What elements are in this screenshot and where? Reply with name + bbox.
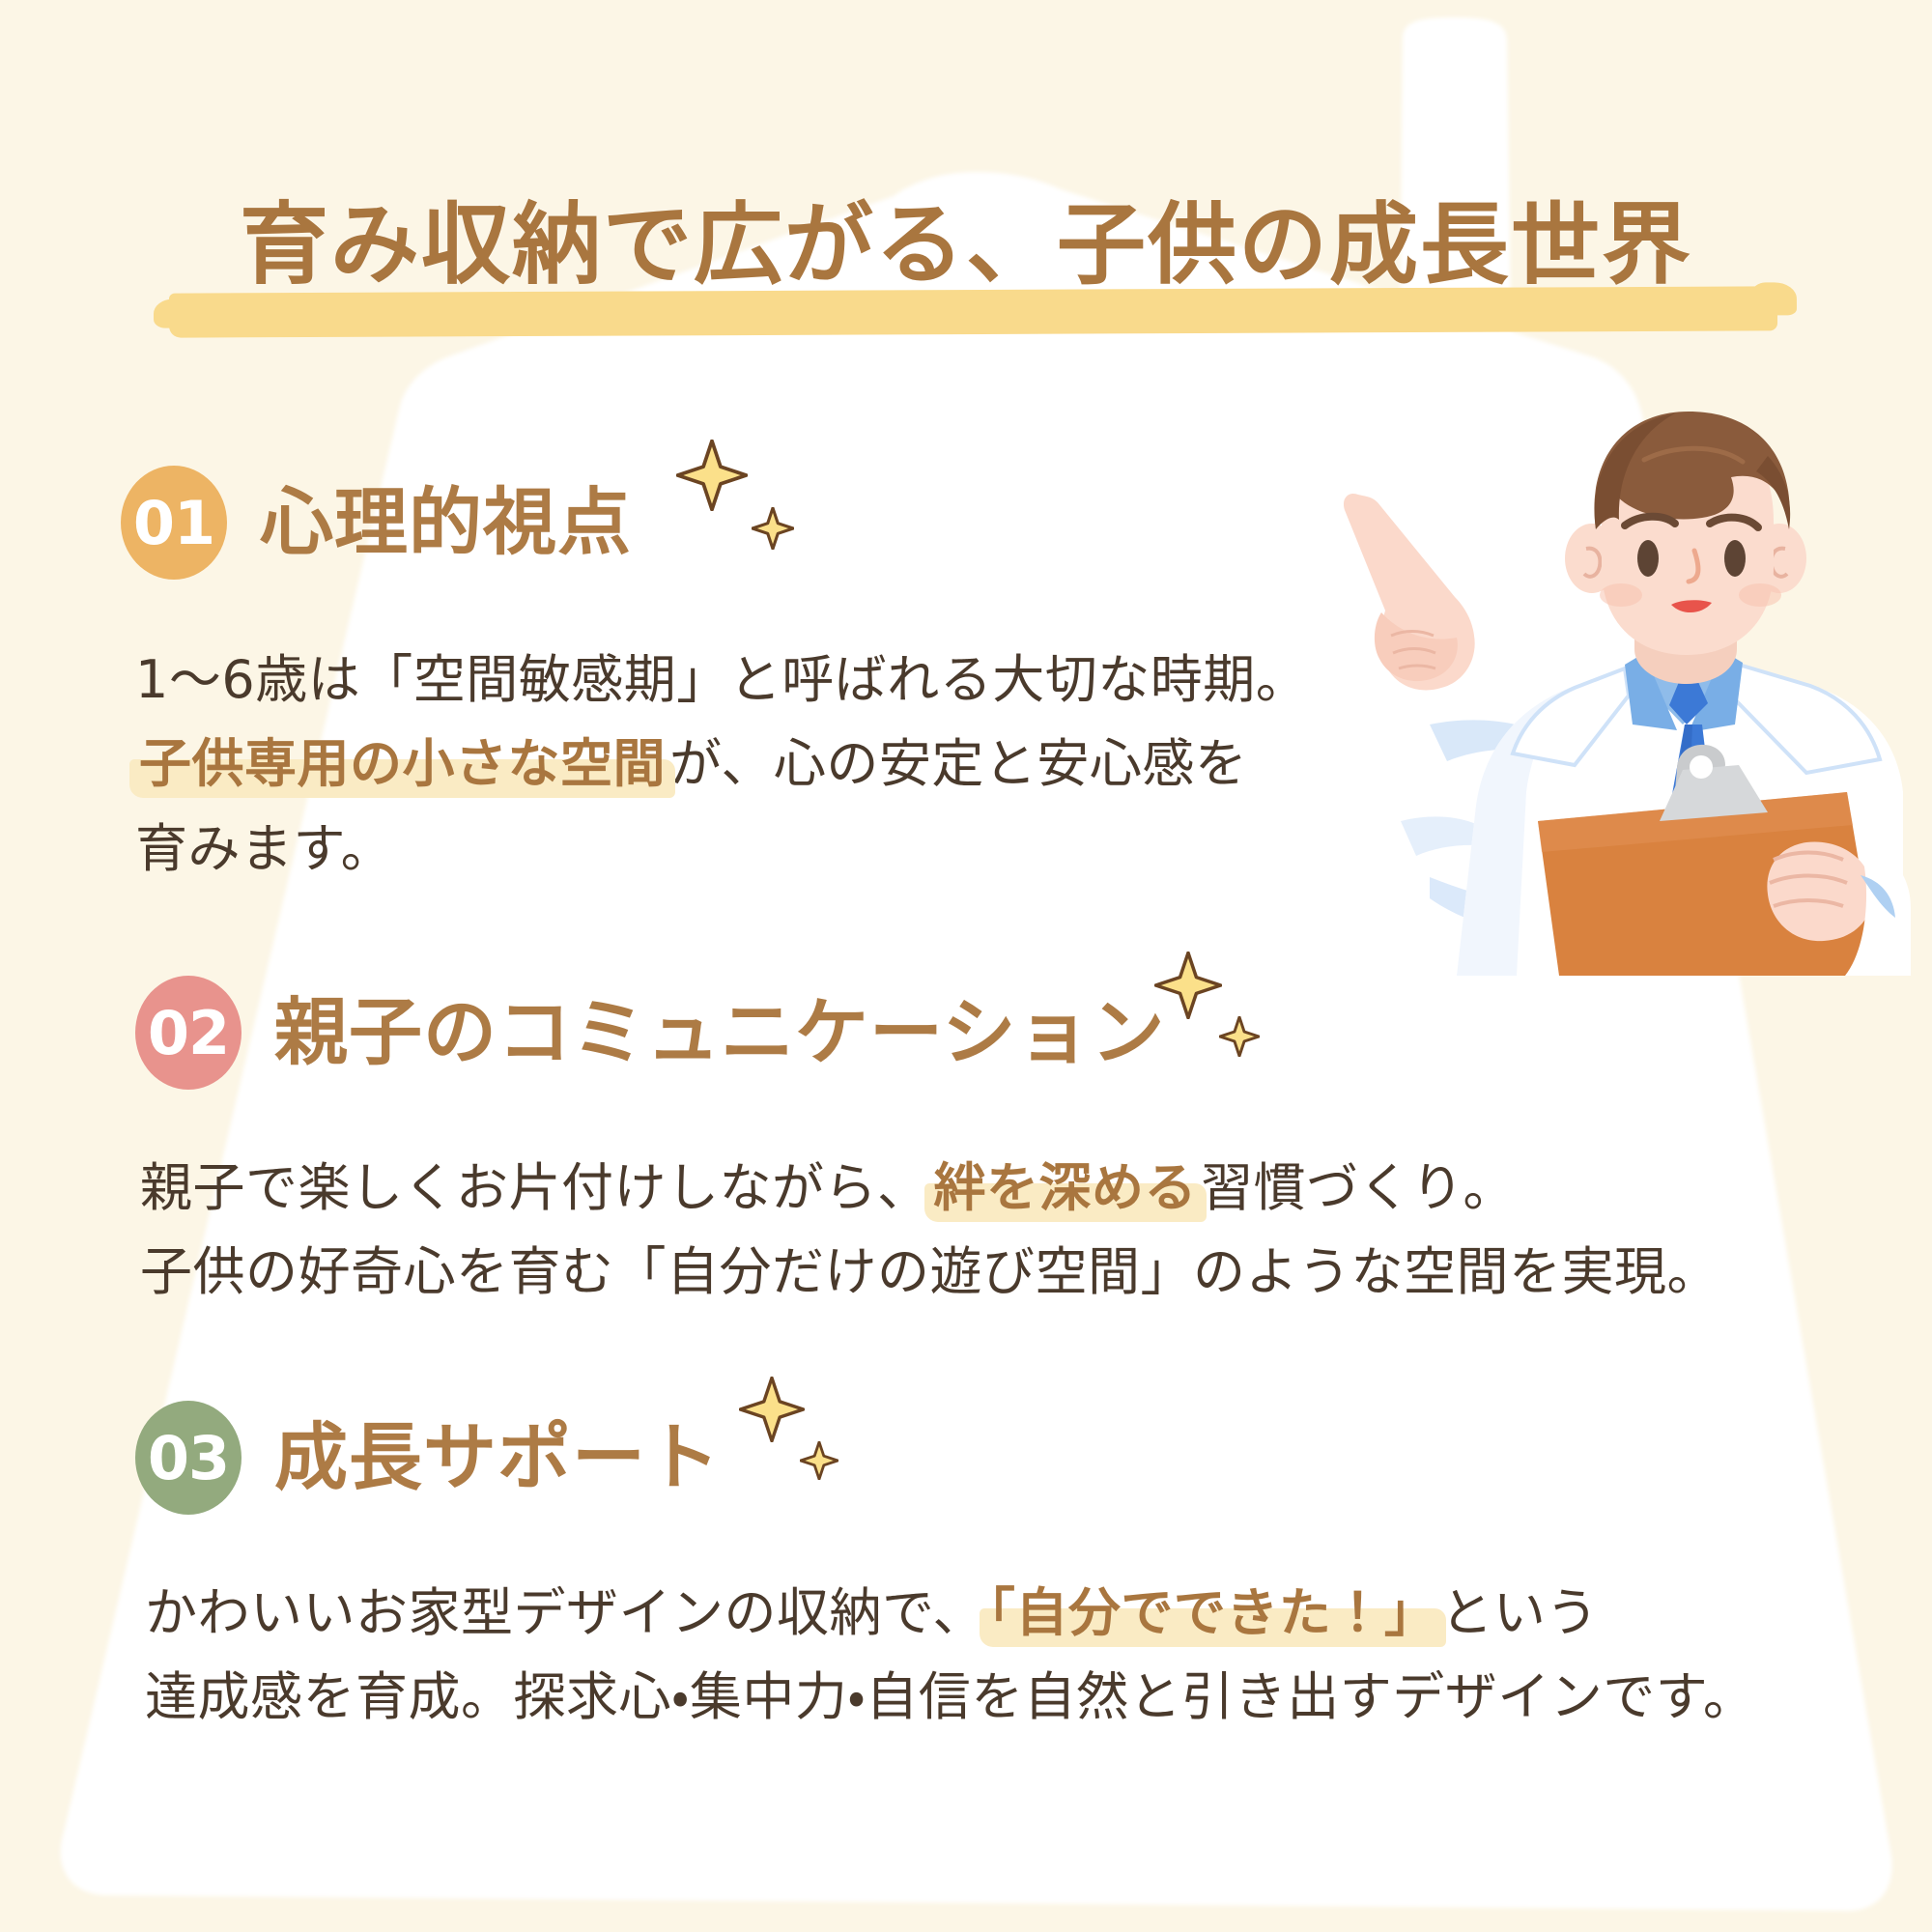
highlight-run: 絆を深める [930, 1157, 1202, 1218]
text-run: という [1440, 1582, 1599, 1643]
text-run: 親子で楽しくお片付けしながら、 [140, 1157, 930, 1218]
section-03-line-1: かわいいお家型デザインの収納で、「自分でできた！」という [145, 1571, 1932, 1655]
section-02-line-1: 親子で楽しくお片付けしながら、絆を深める習慣づくり。 [140, 1146, 1932, 1230]
section-01-body: 1〜6歳は「空間敏感期」と呼ばれる大切な時期。 子供専用の小さな空間が、心の安定… [0, 580, 1932, 891]
section-03: 03 成長サポート かわいいお家型デザインの収納で、「自分でできた！」という 達… [0, 1401, 1932, 1740]
text-run: かわいいお家型デザインの収納で、 [145, 1582, 985, 1643]
text-run: が、心の安定と安心感を [669, 733, 1247, 794]
text-run: 達成感を育成。探求心・集中力・自信を自然と引き出すデザインです。 [145, 1666, 1755, 1727]
section-02: 02 親子のコミュニケーション 親子で楽しくお片付けしながら、絆を深める習慣づく… [0, 976, 1932, 1315]
section-02-body: 親子で楽しくお片付けしながら、絆を深める習慣づくり。 子供の好奇心を育む「自分だ… [0, 1090, 1932, 1315]
section-03-heading: 成長サポート [274, 1421, 721, 1494]
section-02-number-badge: 02 [135, 976, 241, 1090]
highlight-run: 「自分でできた！」 [985, 1582, 1441, 1643]
text-run: 習慣づくり。 [1201, 1157, 1516, 1218]
section-03-line-2: 達成感を育成。探求心・集中力・自信を自然と引き出すデザインです。 [145, 1655, 1932, 1739]
section-03-number-badge: 03 [135, 1401, 241, 1515]
section-01-line-3: 育みます。 [135, 807, 1932, 891]
text-run: 育みます。 [135, 818, 393, 879]
text-run: 子供の好奇心を育む「自分だけの遊び空間」のような空間を実現。 [140, 1241, 1719, 1302]
section-03-body: かわいいお家型デザインの収納で、「自分でできた！」という 達成感を育成。探求心・… [0, 1515, 1932, 1740]
highlight-run: 子供専用の小さな空間 [135, 733, 669, 794]
page-title-text: 育み収納で広がる、子供の成長世界 [0, 201, 1932, 290]
section-01-line-1: 1〜6歳は「空間敏感期」と呼ばれる大切な時期。 [135, 638, 1932, 722]
section-01-heading: 心理的視点 [260, 486, 632, 559]
section-03-header: 03 成長サポート [0, 1401, 1932, 1515]
section-02-header: 02 親子のコミュニケーション [0, 976, 1932, 1090]
section-01-number-badge: 01 [121, 466, 227, 580]
text-run: 1〜6歳は「空間敏感期」と呼ばれる大切な時期。 [135, 649, 1308, 710]
section-02-heading: 親子のコミュニケーション [274, 996, 1165, 1069]
section-02-line-2: 子供の好奇心を育む「自分だけの遊び空間」のような空間を実現。 [140, 1230, 1932, 1314]
infographic-canvas: 育み収納で広がる、子供の成長世界 [0, 0, 1932, 1932]
section-01: 01 心理的視点 1〜6歳は「空間敏感期」と呼ばれる大切な時期。 子供専用の小さ… [0, 466, 1932, 891]
section-01-line-2: 子供専用の小さな空間が、心の安定と安心感を [135, 722, 1932, 806]
section-01-header: 01 心理的視点 [0, 466, 1932, 580]
page-title: 育み収納で広がる、子供の成長世界 [0, 201, 1932, 290]
